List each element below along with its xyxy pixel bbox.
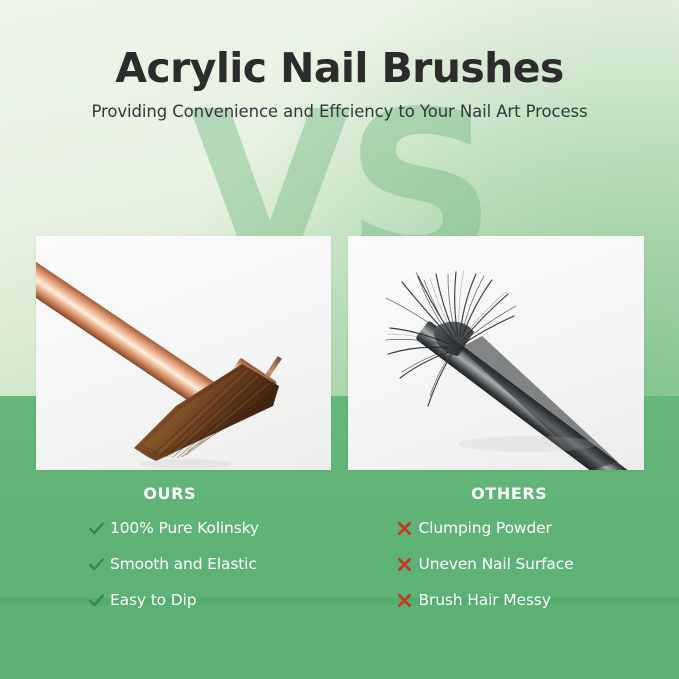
list-item-label: Easy to Dip	[110, 591, 196, 609]
check-icon	[88, 592, 110, 609]
header: Acrylic Nail Brushes Providing Convenien…	[0, 46, 679, 121]
ours-brush-photo	[36, 236, 331, 470]
page-subtitle: Providing Convenience and Effciency to Y…	[0, 102, 679, 121]
ours-heading: OURS	[0, 484, 340, 503]
messy-frayed-bristles	[348, 236, 644, 470]
list-item: Clumping Powder	[397, 515, 679, 541]
check-icon	[88, 520, 110, 537]
check-icon	[88, 556, 110, 573]
list-item-label: 100% Pure Kolinsky	[110, 519, 259, 537]
others-column: OTHERS Clumping Powder Uneven Nail Surfa…	[340, 484, 679, 623]
kolinsky-bristles	[36, 236, 331, 470]
list-item: Brush Hair Messy	[397, 587, 679, 613]
list-item: Easy to Dip	[88, 587, 340, 613]
others-brush-photo	[348, 236, 644, 470]
list-item: Uneven Nail Surface	[397, 551, 679, 577]
list-item-label: Clumping Powder	[419, 519, 552, 537]
ours-feature-list: 100% Pure Kolinsky Smooth and Elastic Ea…	[0, 515, 340, 613]
cross-icon	[397, 557, 419, 572]
list-item-label: Brush Hair Messy	[419, 591, 551, 609]
cross-icon	[397, 593, 419, 608]
ours-column: OURS 100% Pure Kolinsky Smooth and Elast…	[0, 484, 340, 623]
comparison-columns: OURS 100% Pure Kolinsky Smooth and Elast…	[0, 484, 679, 623]
cross-icon	[397, 521, 419, 536]
others-feature-list: Clumping Powder Uneven Nail Surface Brus…	[340, 515, 679, 613]
list-item-label: Uneven Nail Surface	[419, 555, 574, 573]
list-item: Smooth and Elastic	[88, 551, 340, 577]
page-title: Acrylic Nail Brushes	[0, 46, 679, 90]
product-comparison-infographic: VS Acrylic Nail Brushes Providing Conven…	[0, 0, 679, 679]
list-item-label: Smooth and Elastic	[110, 555, 257, 573]
others-heading: OTHERS	[340, 484, 679, 503]
list-item: 100% Pure Kolinsky	[88, 515, 340, 541]
